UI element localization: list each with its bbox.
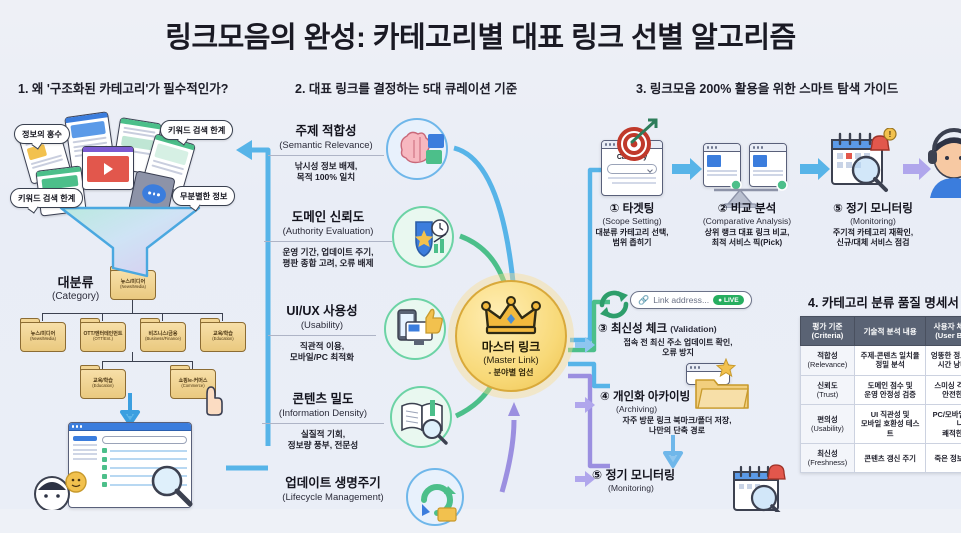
criterion-title-en: (Semantic Relevance) xyxy=(262,140,390,151)
chevron-down-icon xyxy=(647,167,653,173)
device-thumbsup-icon xyxy=(384,298,446,360)
master-link-title-kr: 마스터 링크 xyxy=(482,338,541,355)
table-row: 적합성(Relevance) 주제-콘텐츠 일치율 정밀 분석 엉뚱한 정보로 … xyxy=(801,346,961,376)
criterion-title-en: (Usability) xyxy=(262,320,382,331)
folder-label-en: (News/Media) xyxy=(120,285,146,290)
spec-table: 평가 기준(Criteria) 기술적 분석 내용 사용자 체감 효과(User… xyxy=(800,316,961,473)
step-title-kr: 비교 분석 xyxy=(731,203,777,215)
step-title-kr: 개인화 아카이빙 xyxy=(613,391,690,403)
criterion-title-en: (Authority Evaluation) xyxy=(258,226,398,237)
cell-benefit: 엉뚱한 정보로 인한 시간 낭비 방지 xyxy=(926,346,961,376)
tree-connector xyxy=(42,313,43,321)
folder-label-en: (OTT/Ent.) xyxy=(93,337,113,342)
cell-analysis: 콘텐츠 갱신 주기 xyxy=(854,443,925,473)
brain-puzzle-icon xyxy=(386,118,448,180)
magnifier-icon xyxy=(148,462,194,508)
tree-connector xyxy=(102,313,103,321)
criterion-title-en: (Lifecycle Management) xyxy=(258,492,408,503)
tree-connector xyxy=(132,300,133,314)
link-icon: 🔗 xyxy=(638,295,649,306)
step-title-en: (Scope Setting) xyxy=(586,216,678,226)
guide-inbound-arrow-5 xyxy=(575,468,597,494)
crown-icon xyxy=(480,296,542,336)
table-row: 편의성(Usability) UI 직관성 및 모바일 호환성 테스트 PC/모… xyxy=(801,405,961,444)
criterion-title-kr: 콘텐츠 밀도 xyxy=(256,388,390,407)
cell-criteria: 신뢰도(Trust) xyxy=(801,375,855,405)
step-title-en: (Monitoring) xyxy=(592,483,722,493)
section-title-2: 2. 대표 링크를 결정하는 5대 큐레이션 기준 xyxy=(295,78,517,97)
cell-criteria: 적합성(Relevance) xyxy=(801,346,855,376)
criterion-desc: 운영 기간, 업데이트 주기, 평판 종합 고려, 오류 배제 xyxy=(258,247,398,268)
cell-criteria: 최신성(Freshness) xyxy=(801,443,855,473)
guide-step-1: ① 타겟팅 (Scope Setting) 대분류 카테고리 선택, 범위 좁히… xyxy=(586,200,678,248)
problem-bubble-2: 키워드 검색 한계 xyxy=(160,120,233,140)
problem-bubble-3: 키워드 검색 한계 xyxy=(10,188,83,208)
video-card xyxy=(82,146,134,190)
page-title: 링크모음의 완성: 카테고리별 대표 링크 선별 알고리즘 xyxy=(165,14,795,56)
step-title-kr: 정기 모니터링 xyxy=(606,468,676,482)
step-desc: 대분류 카테고리 선택, 범위 좁히기 xyxy=(586,228,678,248)
target-dartboard-icon xyxy=(610,118,658,162)
link-address-placeholder: Link address... xyxy=(653,295,709,305)
master-link-subtitle: - 분야별 엄선 xyxy=(489,366,534,378)
cell-criteria: 편의성(Usability) xyxy=(801,405,855,444)
step-title-kr: 타겟팅 xyxy=(623,203,655,215)
category-label-en: (Category) xyxy=(52,291,99,302)
spec-table-title: 4. 카테고리 분류 품질 명세서 xyxy=(808,292,959,311)
table-header-analysis: 기술적 분석 내용 xyxy=(854,317,925,346)
criterion-title-kr: 주제 적합성 xyxy=(262,120,390,139)
section-title-1: 1. 왜 '구조화된 카테고리'가 필수적인가? xyxy=(18,78,228,97)
step-num: ③ xyxy=(598,323,608,335)
cell-analysis: UI 직관성 및 모바일 호환성 테스트 xyxy=(854,405,925,444)
table-header-benefit: 사용자 체감 효과(User Benefit) xyxy=(926,317,961,346)
guide-step-4: ④ 개인화 아카이빙 (Archiving) 자주 방문 링크 북마크/폴더 저… xyxy=(594,388,760,436)
step-num: ① xyxy=(610,203,620,215)
criterion-usability: UI/UX 사용성 (Usability) 직관적 이용, 모바일/PC 최적화 xyxy=(262,300,382,362)
cell-analysis: 도메인 점수 및 운영 안정성 검증 xyxy=(854,375,925,405)
tree-connector xyxy=(102,361,193,362)
cell-benefit: 죽은 정보가 아닌 xyxy=(926,443,961,473)
criterion-title-en: (Information Density) xyxy=(256,408,390,419)
section-title-3: 3. 링크모음 200% 활용을 위한 스마트 탐색 가이드 xyxy=(636,78,898,97)
funnel-icon xyxy=(55,202,205,280)
problem-bubble-1: 정보의 홍수 xyxy=(14,124,70,144)
page-header: 링크모음의 완성: 카테고리별 대표 링크 선별 알고리즘 xyxy=(0,0,961,70)
step-title-kr: 정기 모니터링 xyxy=(846,203,913,215)
live-badge: ● LIVE xyxy=(713,295,743,305)
step-title-en: (Comparative Analysis) xyxy=(692,216,802,226)
criterion-desc: 직관적 이용, 모바일/PC 최적화 xyxy=(262,341,382,362)
guide-step-3: ③ 최신성 체크 (Validation) 접속 전 최신 주소 업데이트 확인… xyxy=(598,320,758,358)
table-row: 최신성(Freshness) 콘텐츠 갱신 주기 죽은 정보가 아닌 xyxy=(801,443,961,473)
folder-ott-entertainment[interactable]: OTT/엔터테인먼트(OTT/Ent.) xyxy=(80,322,126,352)
step-title-en: (Archiving) xyxy=(594,404,760,414)
infographic-canvas: 링크모음의 완성: 카테고리별 대표 링크 선별 알고리즘 1. 왜 '구조화된… xyxy=(0,0,961,509)
criterion-desc: 낚시성 정보 배제, 목적 100% 일치 xyxy=(262,161,390,182)
criterion-lifecycle-management: 업데이트 생명주기 (Lifecycle Management) xyxy=(258,472,408,503)
avatar xyxy=(28,468,88,510)
master-link-title-en: (Master Link) xyxy=(483,355,538,366)
step-num: ② xyxy=(718,203,728,215)
cell-benefit: 스미싱 걱정 없는 안전한 클릭 xyxy=(926,375,961,405)
tree-connector xyxy=(162,313,163,321)
problem-bubble-4: 무분별한 정보 xyxy=(172,186,235,206)
step-title-kr: 최신성 체크 xyxy=(611,323,667,335)
cell-analysis: 주제-콘텐츠 일치율 정밀 분석 xyxy=(854,346,925,376)
guide-step-5-top: ⑤ 정기 모니터링 (Monitoring) 주기적 카테고리 재확인, 신규/… xyxy=(818,200,928,248)
master-link-node[interactable]: 마스터 링크 (Master Link) - 분야별 엄선 xyxy=(455,280,567,392)
folder-label-en: (Business/Finance) xyxy=(145,337,181,342)
criterion-semantic-relevance: 주제 적합성 (Semantic Relevance) 낚시성 정보 배제, 목… xyxy=(262,120,390,182)
folder-label-en: (Education) xyxy=(92,384,113,389)
calendar-bell-magnifier-icon: ! xyxy=(828,128,900,196)
cell-benefit: PC/모바일 어디서나 쾌적한 환경 xyxy=(926,405,961,444)
tree-connector xyxy=(192,361,193,369)
step-desc: 주기적 카테고리 재확인, 신규/대체 서비스 점검 xyxy=(818,228,928,248)
svg-text:!: ! xyxy=(889,130,892,139)
guide-step-2: ② 비교 분석 (Comparative Analysis) 상위 랭크 대표 … xyxy=(692,200,802,248)
refresh-arrows-icon xyxy=(597,288,631,320)
table-header-row: 평가 기준(Criteria) 기술적 분석 내용 사용자 체감 효과(User… xyxy=(801,317,961,346)
criterion-desc: 실질적 기회, 정보량 풍부, 전문성 xyxy=(256,429,390,450)
table-header-criteria: 평가 기준(Criteria) xyxy=(801,317,855,346)
tree-connector xyxy=(102,361,103,369)
guide-inbound-arrows xyxy=(575,330,597,420)
tree-connector xyxy=(42,313,223,314)
step-num: ⑤ xyxy=(833,203,843,215)
criterion-information-density: 콘텐츠 밀도 (Information Density) 실질적 기회, 정보량… xyxy=(256,388,390,450)
folder-news-media[interactable]: 뉴스/미디어(News/Media) xyxy=(20,322,66,352)
step-title-en: (Validation) xyxy=(670,324,716,334)
step-num: ④ xyxy=(600,391,610,403)
criterion-title-kr: UI/UX 사용성 xyxy=(262,300,382,319)
section-titles: 1. 왜 '구조화된 카테고리'가 필수적인가? 2. 대표 링크를 결정하는 … xyxy=(0,76,961,100)
criterion-title-kr: 도메인 신뢰도 xyxy=(258,206,398,225)
folder-business-finance[interactable]: 비즈니스/금융(Business/Finance) xyxy=(140,322,186,352)
calendar-bell-magnifier-icon-2 xyxy=(730,462,796,512)
step-title-en: (Monitoring) xyxy=(818,216,928,226)
category-dropdown[interactable] xyxy=(607,164,657,174)
down-arrow-icon-2 xyxy=(660,434,686,468)
browser-search-field[interactable] xyxy=(102,436,187,444)
table-row: 신뢰도(Trust) 도메인 점수 및 운영 안정성 검증 스미싱 걱정 없는 … xyxy=(801,375,961,405)
step-desc: 접속 전 최신 주소 업데이트 확인, 오류 방지 xyxy=(598,338,758,358)
support-agent-avatar xyxy=(928,128,961,200)
play-icon xyxy=(104,163,113,175)
guide-step-5-bottom: ⑤ 정기 모니터링 (Monitoring) xyxy=(592,466,722,493)
down-arrow-icon xyxy=(117,392,143,426)
link-address-input[interactable]: 🔗 Link address... ● LIVE xyxy=(630,291,752,309)
criterion-title-kr: 업데이트 생명주기 xyxy=(258,472,408,491)
step-desc: 상위 랭크 대표 링크 비교, 최적 서비스 픽(Pick) xyxy=(692,228,802,248)
folder-label-en: (News/Media) xyxy=(30,337,56,342)
criterion-authority-evaluation: 도메인 신뢰도 (Authority Evaluation) 운영 기간, 업데… xyxy=(258,206,398,268)
